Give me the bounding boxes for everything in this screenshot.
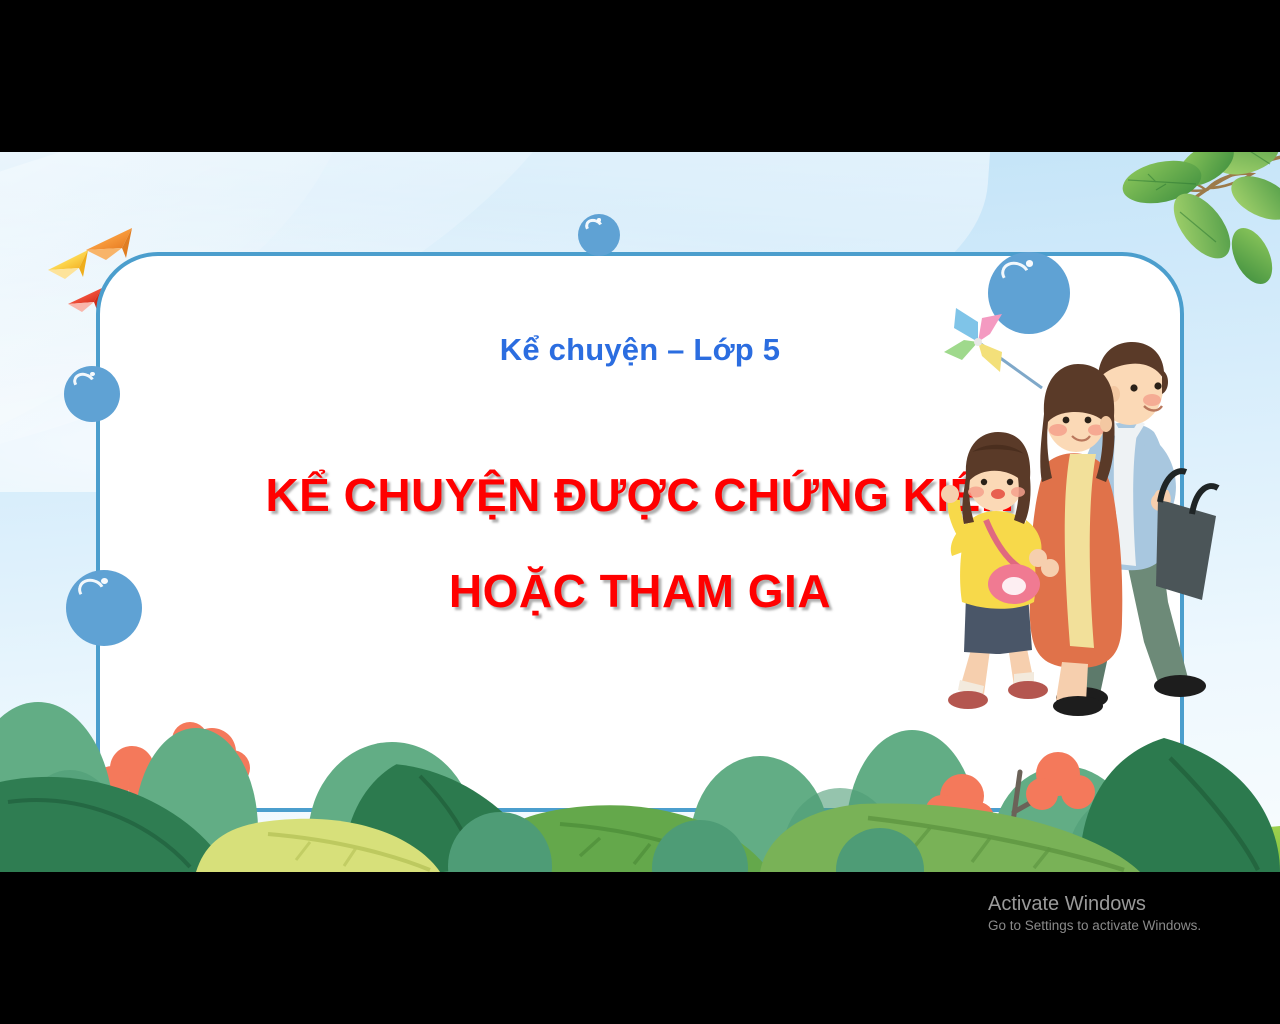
slide-canvas: Kể chuyện – Lớp 5 KỂ CHUYỆN ĐƯỢC CHỨNG K…	[0, 152, 1280, 872]
letterbox-top	[0, 0, 1280, 152]
mother-figure	[1030, 364, 1123, 716]
watermark-title: Activate Windows	[988, 892, 1268, 916]
pinwheel-icon	[944, 308, 1002, 372]
activate-windows-watermark: Activate Windows Go to Settings to activ…	[988, 892, 1268, 935]
screen: Kể chuyện – Lớp 5 KỂ CHUYỆN ĐƯỢC CHỨNG K…	[0, 0, 1280, 1024]
bubble-icon	[66, 570, 142, 646]
watermark-subtitle: Go to Settings to activate Windows.	[988, 916, 1268, 935]
bubble-icon	[578, 214, 620, 256]
bubble-icon	[64, 366, 120, 422]
family-illustration-icon	[930, 302, 1220, 732]
girl-figure	[941, 432, 1048, 709]
